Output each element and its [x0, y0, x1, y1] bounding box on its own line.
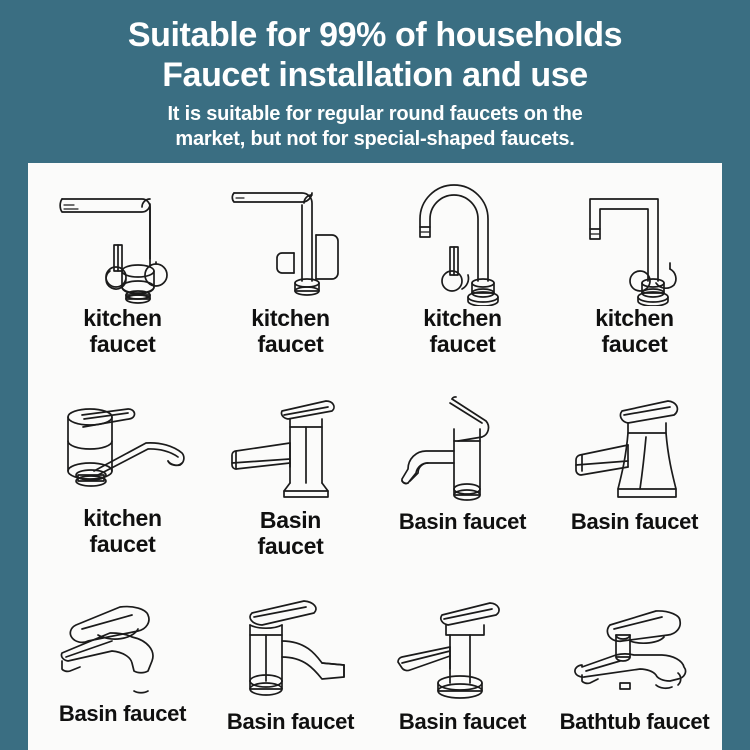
label-line-1: kitchen [548, 305, 721, 331]
faucet-label-r1c4: kitchen faucet [548, 305, 721, 357]
label-line-1: kitchen [204, 305, 377, 331]
faucet-label-r3c4: Bathtub faucet [548, 709, 721, 735]
label-line-2: faucet [36, 531, 209, 557]
faucet-label-r2c4: Basin faucet [548, 509, 721, 535]
label-line-1: kitchen [376, 305, 549, 331]
label-line-1: Basin [204, 507, 377, 533]
header-title-line-1: Suitable for 99% of households [0, 0, 750, 55]
label-line-2: faucet [204, 533, 377, 559]
label-line-2: faucet [376, 331, 549, 357]
label-line-1: Bathtub faucet [548, 709, 721, 735]
kitchen-faucet-gooseneck-icon [376, 171, 549, 306]
faucet-label-r3c1: Basin faucet [36, 701, 209, 727]
kitchen-faucet-square-gooseneck-icon [548, 171, 721, 306]
kitchen-faucet-single-lever-swivel-icon [36, 385, 209, 505]
basin-faucet-square-body-icon [204, 385, 377, 515]
label-line-1: Basin faucet [36, 701, 209, 727]
infographic-page: Suitable for 99% of households Faucet in… [0, 0, 750, 750]
label-line-2: faucet [548, 331, 721, 357]
faucet-label-r1c3: kitchen faucet [376, 305, 549, 357]
faucet-label-r3c3: Basin faucet [376, 709, 549, 735]
faucet-label-r2c3: Basin faucet [376, 509, 549, 535]
basin-faucet-low-profile-icon [36, 591, 209, 701]
faucet-grid: kitchen faucet [28, 163, 722, 750]
faucet-label-r3c2: Basin faucet [204, 709, 377, 735]
label-line-1: kitchen [36, 505, 209, 531]
header-subtitle-line-1: It is suitable for regular round faucets… [0, 95, 750, 127]
label-line-2: faucet [36, 331, 209, 357]
kitchen-faucet-l-spout-three-handle-icon [36, 171, 209, 306]
basin-faucet-modern-square-icon [376, 591, 549, 709]
header-banner: Suitable for 99% of households Faucet in… [0, 0, 750, 163]
faucet-label-r1c1: kitchen faucet [36, 305, 209, 357]
faucet-gallery-panel: kitchen faucet [28, 163, 722, 750]
header-subtitle-line-2: market, but not for special-shaped fauce… [0, 127, 750, 152]
basin-faucet-curved-body-icon [548, 385, 721, 515]
kitchen-faucet-l-spout-side-lever-icon [204, 171, 377, 306]
basin-faucet-classic-arc-icon [204, 591, 377, 709]
faucet-label-r1c2: kitchen faucet [204, 305, 377, 357]
label-line-1: Basin faucet [376, 509, 549, 535]
label-line-1: Basin faucet [376, 709, 549, 735]
label-line-2: faucet [204, 331, 377, 357]
faucet-label-r2c1: kitchen faucet [36, 505, 209, 557]
label-line-1: Basin faucet [204, 709, 377, 735]
header-title-line-2: Faucet installation and use [0, 55, 750, 95]
basin-faucet-tall-round-icon [376, 385, 549, 515]
label-line-1: kitchen [36, 305, 209, 331]
bathtub-faucet-wall-mount-icon [548, 591, 721, 709]
label-line-1: Basin faucet [548, 509, 721, 535]
faucet-label-r2c2: Basin faucet [204, 507, 377, 559]
